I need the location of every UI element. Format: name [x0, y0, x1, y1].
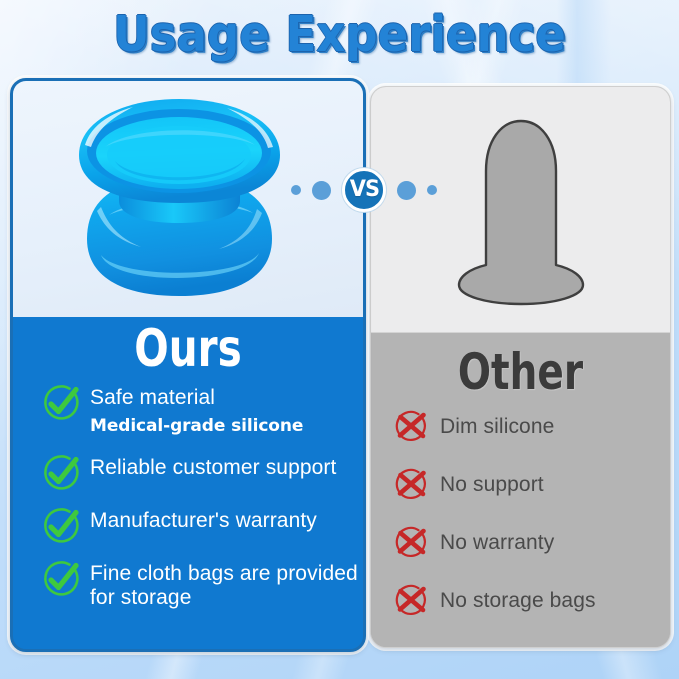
ours-feature-list: Safe material Medical-grade silicone Rel… [13, 383, 363, 609]
blue-cupping-cup-icon [57, 89, 302, 311]
red-cross-icon [393, 583, 429, 619]
list-item: Dim silicone [393, 409, 670, 445]
green-check-icon [41, 383, 81, 423]
list-item-label: Safe material [90, 383, 215, 410]
list-item-label: No support [440, 467, 544, 497]
other-feature-list: Dim silicone No support [371, 409, 670, 619]
other-feature-panel: Other Dim silicone [371, 347, 670, 648]
ours-feature-panel: Ours Safe material Medical-grade silicon… [13, 323, 363, 652]
list-item-label: No warranty [440, 525, 554, 555]
other-product-photo [371, 87, 670, 333]
red-cross-icon [393, 525, 429, 561]
list-item-label: Fine cloth bags are provided for storage [90, 559, 363, 609]
ours-card: Ours Safe material Medical-grade silicon… [10, 78, 366, 652]
list-item: No support [393, 467, 670, 503]
list-item-label: Manufacturer's warranty [90, 506, 317, 533]
list-item-label: No storage bags [440, 583, 596, 613]
red-cross-icon [393, 409, 429, 445]
page-title: Usage Experience [27, 6, 652, 63]
green-check-icon [41, 506, 81, 546]
list-item: No storage bags [393, 583, 670, 619]
list-item-label: Dim silicone [440, 409, 554, 439]
list-item-label: Reliable customer support [90, 453, 336, 480]
gray-cup-icon [455, 115, 587, 310]
other-heading: Other [404, 347, 637, 397]
ours-heading: Ours [52, 323, 325, 375]
green-check-icon [41, 453, 81, 493]
ours-product-photo [13, 81, 363, 317]
list-item-sublabel: Medical-grade silicone [90, 416, 303, 437]
infographic-canvas: Usage Experience [0, 0, 679, 679]
list-item: Reliable customer support [41, 453, 363, 493]
list-item: Fine cloth bags are provided for storage [41, 559, 363, 609]
list-item-sub-holder: Medical-grade silicone [90, 416, 363, 437]
red-cross-icon [393, 467, 429, 503]
green-check-icon [41, 559, 81, 599]
list-item: Manufacturer's warranty [41, 506, 363, 546]
other-card: Other Dim silicone [370, 86, 671, 648]
list-item: No warranty [393, 525, 670, 561]
